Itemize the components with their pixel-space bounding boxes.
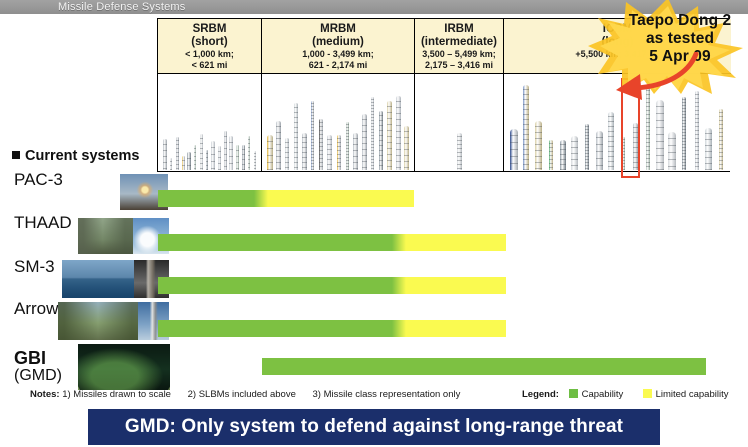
missile-silhouette [294, 103, 298, 170]
missile-banding [608, 112, 614, 170]
missile-banding [346, 122, 349, 170]
missile-silhouette [218, 146, 221, 170]
missile-banding [170, 158, 172, 170]
capability-segment [158, 320, 400, 337]
class-name: SRBM [158, 23, 261, 36]
missile-banding [182, 156, 185, 170]
missile-banding [229, 136, 233, 170]
capability-blend [392, 234, 406, 251]
missile-banding [396, 96, 401, 170]
missile-silhouette [187, 152, 191, 170]
limited-capability-segment [262, 190, 414, 207]
limited-capability-segment [400, 234, 506, 251]
missile-banding [224, 131, 227, 170]
bullet-square-icon [12, 151, 20, 159]
missile-banding [510, 129, 518, 170]
missile-silhouette [387, 101, 392, 170]
missile-silhouette [254, 151, 256, 170]
legend-text-limited-capability: Limited capability [656, 389, 729, 400]
limited-capability-segment [400, 277, 506, 294]
missile-banding [327, 135, 332, 170]
missile-silhouette [549, 140, 553, 170]
missile-banding [585, 124, 589, 170]
missile-silhouette [327, 135, 332, 170]
missile-silhouette [319, 119, 323, 170]
class-header-irbm: IRBM(intermediate)3,500 – 5,499 km;2,175… [415, 19, 504, 74]
missile-illustrations-irbm [415, 74, 504, 171]
missile-banding [254, 151, 256, 170]
missile-banding [302, 133, 307, 170]
missile-silhouette [224, 131, 227, 170]
current-systems-heading: Current systems [12, 148, 139, 164]
missile-banding [242, 145, 245, 170]
missile-banding [267, 135, 273, 170]
system-label-pac-3: PAC-3 [14, 170, 63, 190]
missile-silhouette [206, 150, 208, 170]
class-range-1: 3,500 – 5,499 km; [415, 49, 503, 60]
capability-bar-gbi [262, 358, 706, 375]
capability-blend [392, 320, 406, 337]
missile-silhouette [379, 111, 383, 170]
system-photo-sm-3-1 [62, 260, 134, 298]
missile-silhouette [285, 138, 289, 170]
system-name: GBI [14, 348, 46, 368]
missile-silhouette [170, 158, 172, 170]
missile-banding [682, 97, 686, 170]
missile-banding [218, 146, 221, 170]
notes-row: Notes: 1) Missiles drawn to scale 2) SLB… [30, 389, 474, 402]
system-name: THAAD [14, 213, 72, 232]
class-range-2: 2,175 – 3,416 mi [415, 60, 503, 71]
missile-banding [535, 121, 542, 170]
missile-banding [549, 140, 553, 170]
missile-banding [353, 133, 358, 170]
missile-banding [319, 119, 323, 170]
class-range-2: 621 - 2,174 mi [262, 60, 414, 71]
missile-banding [719, 109, 723, 170]
missile-banding [379, 111, 383, 170]
photo-overlay [62, 260, 134, 298]
system-label-arrow: Arrow [14, 299, 58, 319]
missile-silhouette [200, 134, 203, 170]
capability-blend [254, 190, 268, 207]
missile-silhouette [682, 97, 686, 170]
missile-silhouette [585, 124, 589, 170]
class-range-1: 1,000 - 3,499 km; [262, 49, 414, 60]
missile-banding [571, 136, 578, 170]
missile-silhouette [695, 91, 699, 170]
missile-silhouette [535, 121, 542, 170]
system-photo-thaad-1 [78, 218, 133, 254]
legend-text-capability: Capability [582, 389, 624, 400]
missile-silhouette [194, 145, 196, 170]
missile-banding [236, 145, 239, 170]
class-name: MRBM [262, 23, 414, 36]
legend-swatch-capability [569, 389, 578, 398]
limited-capability-segment [400, 320, 506, 337]
missile-silhouette [371, 97, 374, 170]
missile-banding [200, 134, 203, 170]
missile-banding [705, 128, 712, 170]
callout-arrow-icon [592, 52, 702, 102]
note-item-3: 3) Missile class representation only [313, 389, 461, 400]
missile-banding [596, 131, 603, 170]
system-label-gbi: GBI(GMD) [14, 348, 62, 385]
missile-silhouette [346, 122, 349, 170]
missile-silhouette [163, 139, 167, 170]
system-label-sm-3: SM-3 [14, 257, 55, 277]
missile-silhouette [311, 101, 314, 170]
missile-silhouette [236, 145, 239, 170]
missile-silhouette [353, 133, 358, 170]
missile-silhouette [229, 136, 233, 170]
missile-silhouette [248, 136, 250, 170]
missile-banding [404, 126, 409, 170]
legend-label: Legend: [522, 389, 559, 400]
class-range-2: < 621 mi [158, 60, 261, 71]
missile-silhouette [705, 128, 712, 170]
capability-bar-sm-3 [158, 277, 506, 294]
missile-silhouette [362, 114, 367, 170]
missile-banding [294, 103, 298, 170]
missile-banding [311, 101, 314, 170]
class-header-mrbm: MRBM(medium)1,000 - 3,499 km;621 - 2,174… [262, 19, 415, 74]
system-photo-arrow-1 [58, 302, 138, 340]
missile-illustrations-mrbm [262, 74, 415, 171]
legend: Legend: Capability Limited capability [522, 389, 728, 402]
missile-silhouette [719, 109, 723, 170]
missile-silhouette [337, 135, 341, 170]
missile-banding [668, 132, 676, 170]
missile-silhouette [242, 145, 245, 170]
missile-silhouette [267, 135, 273, 170]
missile-illustrations-srbm [158, 74, 262, 171]
capability-blend [392, 277, 406, 294]
missile-banding [248, 136, 250, 170]
system-photo-gbi-1 [78, 344, 170, 390]
missile-silhouette [523, 85, 529, 170]
current-systems-label: Current systems [25, 148, 139, 164]
missile-silhouette [656, 100, 664, 170]
missile-banding [337, 135, 341, 170]
conclusion-banner: GMD: Only system to defend against long-… [88, 409, 660, 445]
callout-line-2: as tested [612, 30, 748, 48]
system-name: PAC-3 [14, 170, 63, 189]
photo-overlay [58, 302, 138, 340]
photo-overlay [78, 344, 170, 390]
capability-segment [262, 358, 706, 375]
missile-banding [362, 114, 367, 170]
capability-bar-pac-3 [158, 190, 414, 207]
system-name: Arrow [14, 299, 58, 318]
note-item-2: 2) SLBMs included above [188, 389, 296, 400]
missile-banding [656, 100, 664, 170]
note-item-1: 1) Missiles drawn to scale [62, 389, 171, 400]
notes-label: Notes: [30, 389, 60, 400]
missile-silhouette [211, 141, 215, 170]
missile-silhouette [276, 121, 281, 170]
window-title: Missile Defense Systems [58, 0, 185, 14]
class-name: IRBM [415, 23, 503, 36]
missile-banding [187, 152, 191, 170]
missile-silhouette [596, 131, 603, 170]
missile-banding [457, 133, 462, 170]
missile-silhouette [457, 133, 462, 170]
missile-silhouette [510, 129, 518, 170]
system-name: SM-3 [14, 257, 55, 276]
missile-banding [285, 138, 289, 170]
missile-banding [695, 91, 699, 170]
conclusion-banner-text: GMD: Only system to defend against long-… [125, 416, 623, 438]
missile-silhouette [608, 112, 614, 170]
missile-silhouette [668, 132, 676, 170]
missile-banding [206, 150, 208, 170]
photo-overlay [78, 218, 133, 254]
missile-silhouette [302, 133, 307, 170]
missile-banding [371, 97, 374, 170]
class-qualifier: (intermediate) [415, 36, 503, 49]
missile-banding [194, 145, 196, 170]
system-subname: (GMD) [14, 367, 62, 385]
missile-banding [560, 140, 566, 170]
capability-segment [158, 277, 400, 294]
class-qualifier: (medium) [262, 36, 414, 49]
missile-silhouette [404, 126, 409, 170]
missile-banding [523, 85, 529, 170]
capability-bar-thaad [158, 234, 506, 251]
capability-segment [158, 234, 400, 251]
missile-silhouette [176, 137, 179, 170]
class-qualifier: (short) [158, 36, 261, 49]
missile-silhouette [182, 156, 185, 170]
missile-silhouette [396, 96, 401, 170]
capability-bar-arrow [158, 320, 506, 337]
missile-silhouette [560, 140, 566, 170]
missile-banding [276, 121, 281, 170]
missile-banding [163, 139, 167, 170]
callout-line-1: Taepo Dong 2 [612, 12, 748, 30]
system-label-thaad: THAAD [14, 213, 72, 233]
capability-segment [158, 190, 262, 207]
missile-banding [387, 101, 392, 170]
missile-silhouette [571, 136, 578, 170]
missile-banding [176, 137, 179, 170]
class-header-srbm: SRBM(short)< 1,000 km;< 621 mi [158, 19, 262, 74]
legend-swatch-limited-capability [643, 389, 652, 398]
missile-banding [211, 141, 215, 170]
class-range-1: < 1,000 km; [158, 49, 261, 60]
